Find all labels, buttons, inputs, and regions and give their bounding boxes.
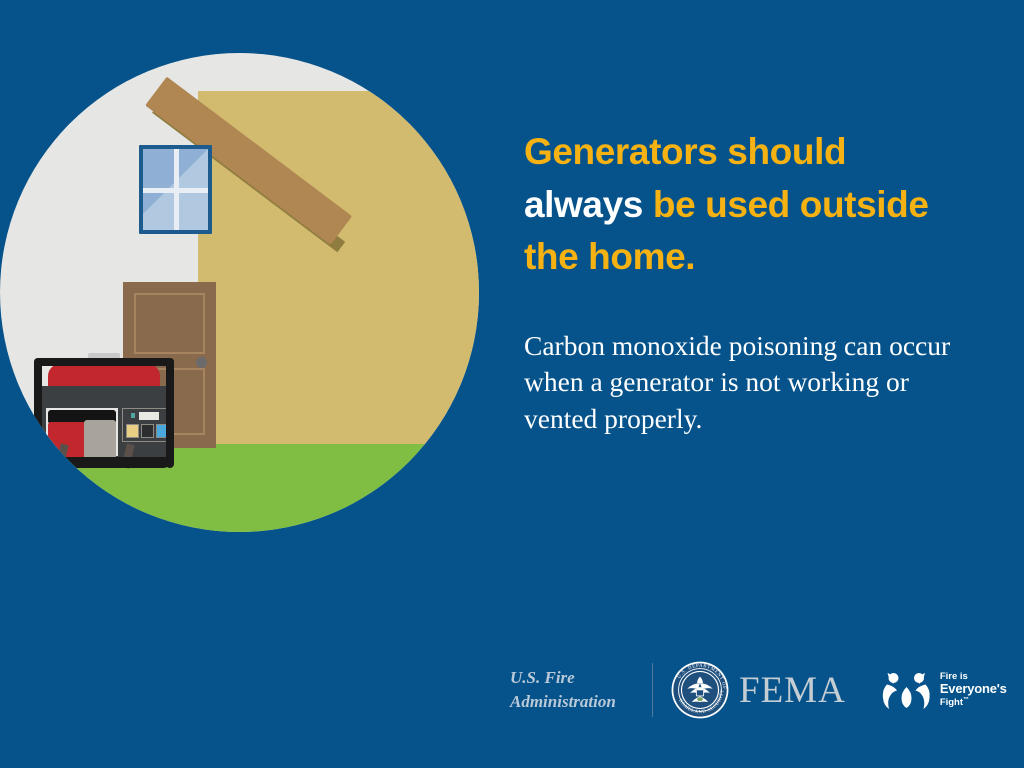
poster-canvas: Generators should always be used outside… (0, 0, 1024, 768)
usfa-wordmark: U.S. Fire Administration (510, 666, 632, 714)
body-copy: Carbon monoxide poisoning can occur when… (524, 328, 964, 438)
fema-wordmark: FEMA (739, 669, 846, 712)
feif-line-2: Everyone's (940, 682, 1007, 697)
usfa-line-2: Administration (510, 690, 632, 714)
generator-engine-block (48, 422, 86, 458)
feif-line-3: Fight™ (940, 697, 1007, 709)
two-figures-flame-icon (880, 668, 935, 712)
generator-outlet-dark (141, 424, 154, 438)
footer-logo-bar: U.S. Fire Administration (510, 652, 1010, 728)
generator-indicator-led-icon (131, 413, 135, 418)
portable-generator (28, 358, 180, 473)
feif-line-3-text: Fight (940, 697, 963, 708)
dhs-seal-icon: U.S. DEPARTMENT OF HOMELAND SECURITY (671, 661, 729, 719)
circle-clip (0, 53, 479, 532)
window-mullion-vertical (174, 149, 179, 230)
generator-outlet-yellow (126, 424, 139, 438)
generator-fuel-tank (48, 364, 160, 388)
usfa-line-1: U.S. Fire (510, 666, 632, 690)
generator-frame-left (34, 358, 42, 468)
illustration-circle (0, 53, 479, 532)
generator-control-panel (122, 408, 170, 442)
generator-frame-top (34, 358, 174, 366)
footer-divider (652, 663, 653, 717)
generator-frame-right (166, 358, 174, 468)
headline: Generators should always be used outside… (524, 126, 964, 284)
generator-display (139, 412, 159, 420)
generator-air-filter (84, 420, 116, 460)
headline-part-1: Generators should (524, 131, 846, 172)
house-window (139, 145, 212, 234)
house-scene (0, 53, 479, 532)
door-knob-icon (196, 357, 207, 368)
message-block: Generators should always be used outside… (524, 126, 964, 437)
fire-is-everyones-fight-text: Fire is Everyone's Fight™ (940, 672, 1007, 709)
generator-body-upper (42, 386, 166, 406)
headline-emphasis-always: always (524, 184, 643, 225)
fire-is-everyones-fight-logo: Fire is Everyone's Fight™ (880, 668, 1007, 712)
generator-frame-bottom (34, 457, 174, 468)
trademark-symbol: ™ (963, 697, 969, 703)
door-panel-top (134, 293, 205, 354)
